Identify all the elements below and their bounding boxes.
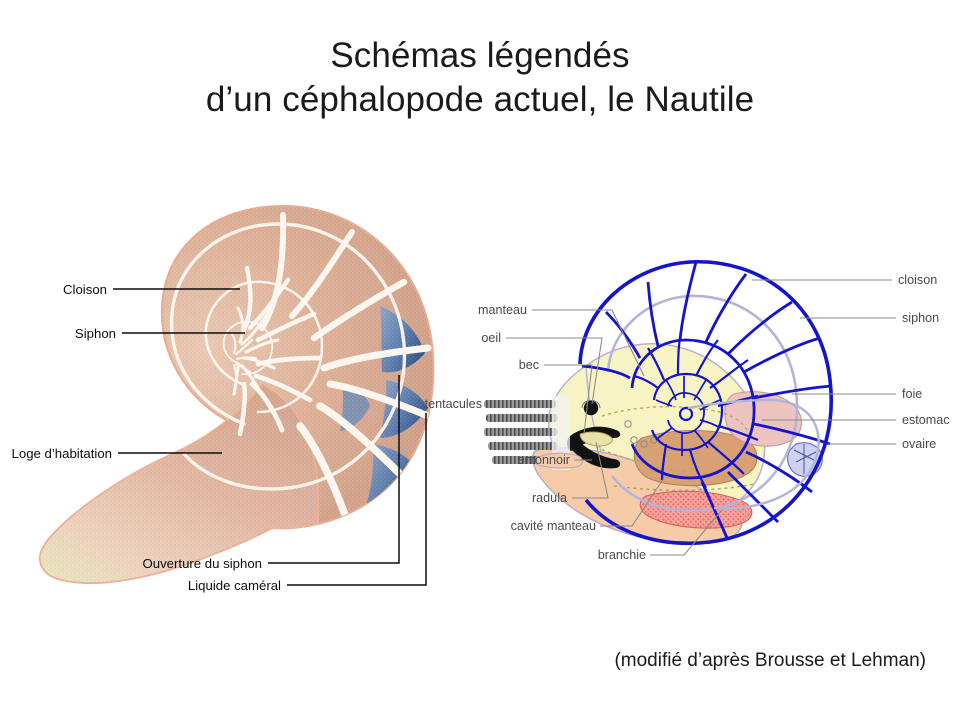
label-foie: foie [902,387,922,401]
label-cloison-right: cloison [898,273,937,287]
tentacle [484,400,556,408]
label-siphon-right: siphon [902,311,939,325]
label-liquide-cameral: Liquide caméral [188,578,281,593]
label-entonnoir: entonnoir [517,453,570,467]
label-ovaire: ovaire [902,437,936,451]
septum [754,386,832,398]
label-manteau: manteau [478,303,527,317]
label-radula: radula [532,491,567,505]
page-title: Schémas légendés d’un céphalopode actuel… [0,34,960,122]
page-title-line-1: Schémas légendés [0,34,960,78]
septum [648,282,658,346]
septum [706,274,746,342]
label-cloison: Cloison [63,282,107,297]
tentacle [486,414,558,422]
label-branchie: branchie [598,548,646,562]
ovary [788,443,823,477]
nautilus-shell-section-figure: Cloison Siphon Loge d’habitation Ouvertu… [0,188,470,598]
anatomy-svg: manteau oeil bec tentacules entonnoir ra… [462,248,960,593]
figure-caption: (modifié d’après Brousse et Lehman) [0,650,926,672]
nautilus-anatomy-figure: manteau oeil bec tentacules entonnoir ra… [462,248,960,593]
label-ouverture-siphon: Ouverture du siphon [143,556,263,571]
label-siphon: Siphon [75,326,116,341]
label-tentacules: tentacules [425,397,482,411]
label-cavite-manteau: cavité manteau [511,519,596,533]
tentacle [484,428,558,436]
page-title-line-2: d’un céphalopode actuel, le Nautile [0,78,960,122]
label-loge-habitation: Loge d’habitation [12,446,112,461]
septum [744,338,820,372]
shell-section-svg: Cloison Siphon Loge d’habitation Ouvertu… [0,188,470,598]
label-estomac: estomac [902,413,950,427]
label-oeil: oeil [481,331,501,345]
label-bec: bec [519,358,539,372]
tentacle [488,442,558,450]
septum [680,262,696,340]
